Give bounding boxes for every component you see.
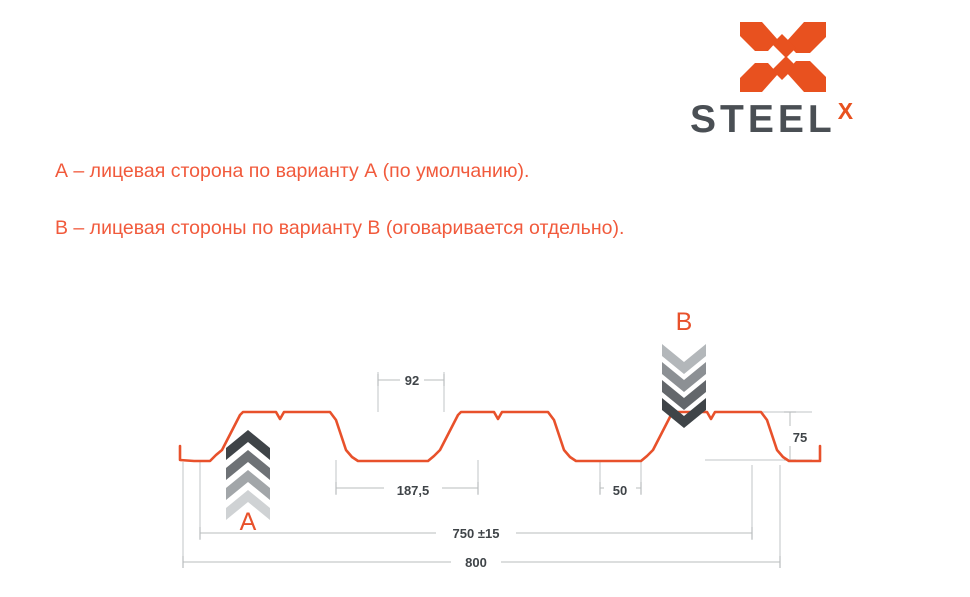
legend-line-variant-a: А – лицевая сторона по варианту А (по ум… [55, 160, 529, 183]
dimension-label-75: 75 [793, 430, 807, 445]
marker-b-label: В [676, 308, 693, 336]
dimension-label-50: 50 [613, 483, 627, 498]
steelx-wordmark: STEEL X [690, 100, 930, 142]
logo-text-steel: STEEL [690, 100, 836, 140]
dimension-label-92: 92 [405, 373, 419, 388]
marker-b: В [662, 308, 706, 428]
chevron-up-stack-icon [226, 430, 270, 520]
profile-technical-drawing: 92 187,5 50 75 750 ±15 800 А [0, 290, 970, 590]
legend-line-variant-b: В – лицевая стороны по варианту В (огова… [55, 217, 624, 240]
dimension-label-750: 750 ±15 [453, 526, 500, 541]
steelx-logo: STEEL X [690, 18, 930, 143]
chevron-down-stack-icon [662, 344, 706, 428]
corrugated-profile-outline [180, 412, 820, 461]
marker-a-label: А [240, 508, 257, 536]
dimension-label-800: 800 [465, 555, 487, 570]
steelx-mark-icon [738, 18, 828, 96]
marker-a: А [226, 430, 270, 536]
logo-text-x-superscript: X [838, 100, 853, 123]
dimension-label-187-5: 187,5 [397, 483, 430, 498]
drawing-page: STEEL X А – лицевая сторона по варианту … [0, 0, 970, 597]
